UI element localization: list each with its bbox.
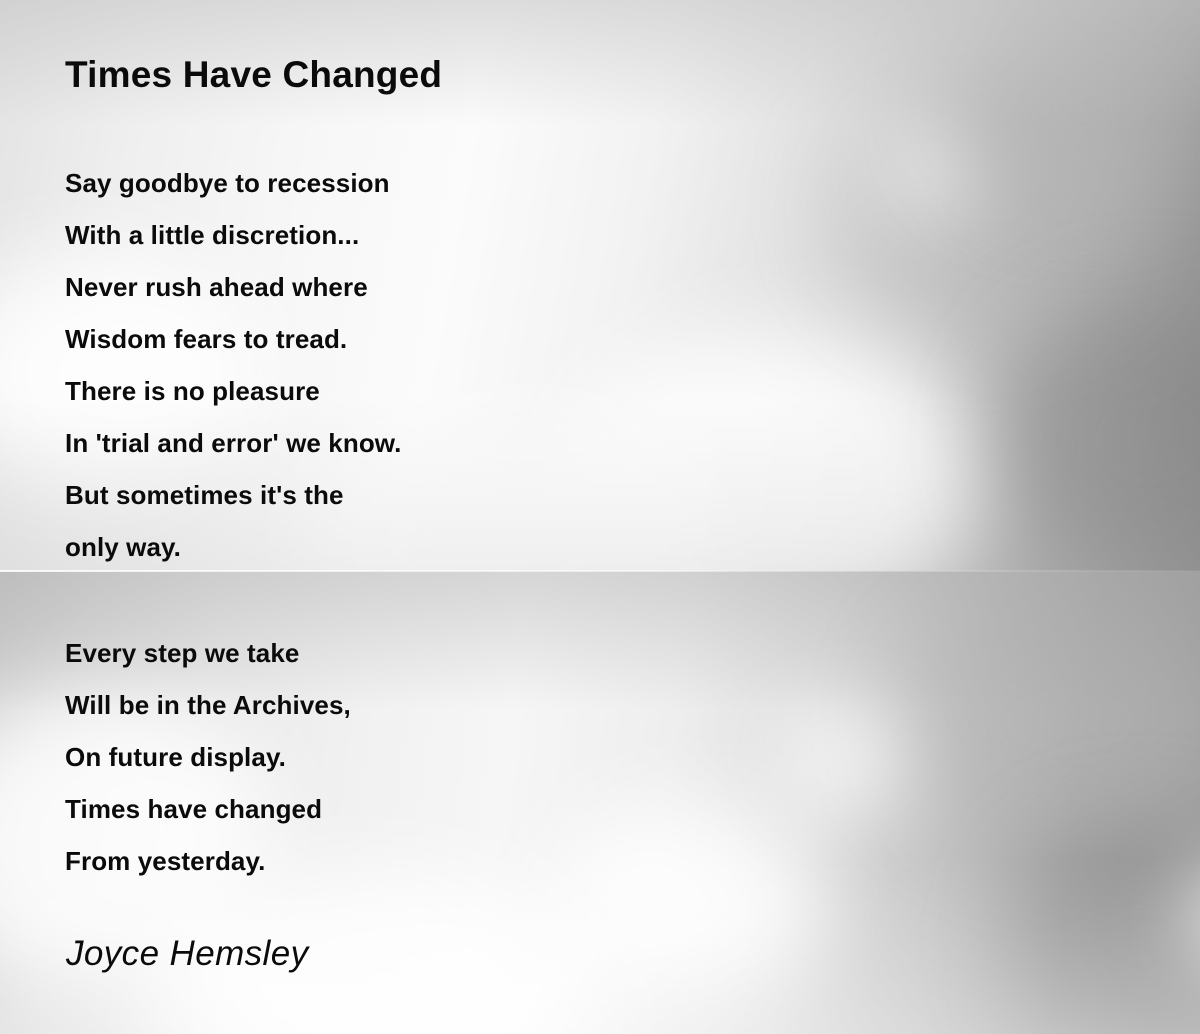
author-signature: Joyce Hemsley	[66, 934, 309, 974]
poem-line: On future display.	[65, 731, 351, 783]
poem-line: Say goodbye to recession	[65, 157, 401, 209]
poem-line: Wisdom fears to tread.	[65, 313, 401, 365]
poem-line: Every step we take	[65, 627, 351, 679]
poem-line: With a little discretion...	[65, 209, 401, 261]
poem-line: But sometimes it's the	[65, 469, 401, 521]
poem-line: Never rush ahead where	[65, 261, 401, 313]
poem-poster: Times Have Changed Say goodbye to recess…	[0, 0, 1200, 1034]
poem-line: From yesterday.	[65, 835, 351, 887]
poem-line: Times have changed	[65, 783, 351, 835]
poem-stanza: Every step we take Will be in the Archiv…	[65, 627, 351, 887]
poem-line: There is no pleasure	[65, 365, 401, 417]
poem-line: Will be in the Archives,	[65, 679, 351, 731]
poem-stanza: Say goodbye to recession With a little d…	[65, 157, 401, 573]
poem-line: only way.	[65, 521, 401, 573]
poem-line: In 'trial and error' we know.	[65, 417, 401, 469]
page-title: Times Have Changed	[65, 54, 442, 96]
poem-content: Times Have Changed Say goodbye to recess…	[0, 0, 1200, 1034]
